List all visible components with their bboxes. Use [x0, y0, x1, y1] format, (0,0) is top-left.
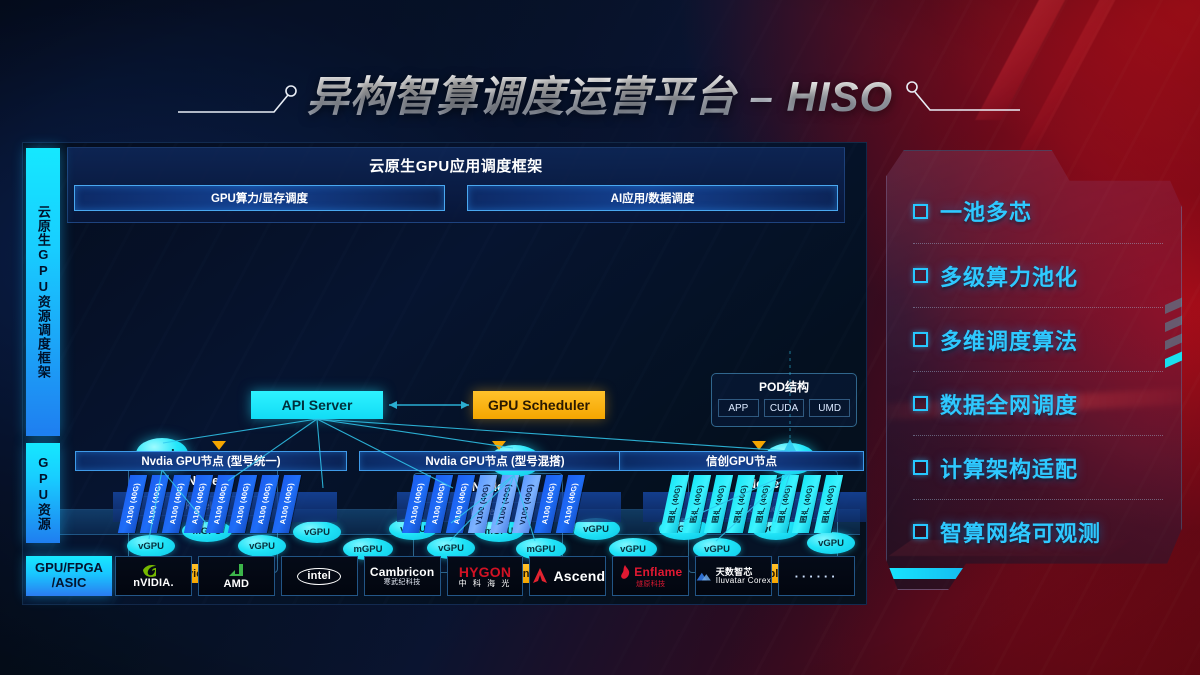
vendor-subname: 寒武纪科技 [384, 579, 421, 586]
feature-item-3[interactable]: 多维调度算法 [913, 307, 1163, 371]
page-title: 异构智算调度运营平台 – HISO [307, 63, 893, 124]
nvidia-eye-icon [140, 563, 166, 577]
vendor-name: Enflame [634, 566, 682, 578]
pod-structure-title: POD结构 [712, 378, 856, 395]
framework-bar-ai[interactable]: AI应用/数据调度 [467, 185, 838, 211]
feature-item-1[interactable]: 一池多芯 [913, 179, 1163, 243]
amd-arrow-icon [227, 562, 245, 578]
checkbox-icon [913, 332, 928, 347]
vendor-logo-iluvatar[interactable]: 天数智芯 Iluvatar Corex [695, 556, 772, 596]
vendor-name: Ascend [554, 569, 606, 583]
vendor-logo-nvidia[interactable]: nVIDIA. [115, 556, 192, 596]
enflame-flame-icon [619, 565, 631, 580]
checkbox-icon [913, 268, 928, 283]
vendor-name: HYGON [459, 565, 511, 579]
api-server-node[interactable]: API Server [251, 391, 383, 419]
feature-item-2[interactable]: 多级算力池化 [913, 243, 1163, 307]
checkbox-icon [913, 204, 928, 219]
gpu-resource-layer: Nvdia GPU节点 (型号统一) A100 (40G) A100 (40G)… [23, 443, 867, 563]
framework-bar-row: GPU算力/显存调度 AI应用/数据调度 [68, 185, 844, 211]
gpu-group-header-3: 信创GPU节点 [619, 451, 864, 471]
iluvatar-mountain-icon [696, 568, 711, 584]
vendor-logo-hygon[interactable]: HYGON 中 科 海 光 [447, 556, 524, 596]
feature-label: 多维调度算法 [940, 324, 1078, 356]
architecture-canvas: 云原生GPU应用调度框架 GPU算力/显存调度 AI应用/数据调度 [22, 142, 867, 605]
framework-panel-title: 云原生GPU应用调度框架 [68, 155, 844, 176]
pod-structure-row: APP CUDA UMD [712, 395, 856, 417]
framework-bar-compute[interactable]: GPU算力/显存调度 [74, 185, 445, 211]
vendor-logo-ascend[interactable]: Ascend [529, 556, 606, 596]
vendor-logo-cambricon[interactable]: Cambricon 寒武纪科技 [364, 556, 441, 596]
sidebar-label-framework: 云原生GPU资源调度框架 [26, 148, 60, 436]
gpu-group-header-2: Nvdia GPU节点 (型号混搭) [359, 451, 631, 471]
vendor-logo-amd[interactable]: AMD [198, 556, 275, 596]
pod-structure-cell-app: APP [718, 399, 759, 417]
vendor-logo-enflame[interactable]: Enflame 燧原科技 [612, 556, 689, 596]
vendor-logo-more[interactable]: ······ [778, 556, 855, 596]
feature-label: 智算网络可观测 [940, 516, 1101, 548]
ascend-mark-icon [531, 567, 549, 585]
pod-structure-box: POD结构 APP CUDA UMD [711, 373, 857, 427]
pod-structure-cell-umd: UMD [809, 399, 850, 417]
sidebar-label-gpu-resource: GPU资源 [26, 443, 60, 543]
title-bar: 异构智算调度运营平台 – HISO [0, 62, 1200, 124]
gpu-group-header-1: Nvdia GPU节点 (型号统一) [75, 451, 347, 471]
vendor-name: ······ [795, 570, 839, 583]
group-arrow-3 [752, 441, 766, 450]
pod-structure-cell-cuda: CUDA [764, 399, 805, 417]
checkbox-icon [913, 460, 928, 475]
feature-item-4[interactable]: 数据全网调度 [913, 371, 1163, 435]
features-panel: 一池多芯 多级算力池化 多维调度算法 数据全网调度 计算架构适配 智算网络可观测 [886, 150, 1182, 590]
group-arrow-2 [492, 441, 506, 450]
vendor-logo-intel[interactable]: intel [281, 556, 358, 596]
vendor-name: Cambricon [370, 566, 434, 578]
vendor-name: intel [307, 571, 331, 582]
vendor-subname: 燧原科技 [636, 581, 666, 588]
title-decoration-left [178, 62, 298, 124]
gpu-scheduler-node[interactable]: GPU Scheduler [473, 391, 605, 419]
feature-label: 多级算力池化 [940, 260, 1078, 292]
vendor-name: nVIDIA. [133, 578, 174, 589]
checkbox-icon [913, 396, 928, 411]
feature-label: 一池多芯 [940, 195, 1032, 227]
vendor-subname: 中 科 海 光 [459, 580, 512, 588]
feature-label: 计算架构适配 [940, 452, 1078, 484]
sidebar-label-asic: GPU/FPGA/ASIC [26, 556, 112, 596]
framework-panel: 云原生GPU应用调度框架 GPU算力/显存调度 AI应用/数据调度 [67, 147, 845, 223]
feature-item-6[interactable]: 智算网络可观测 [913, 499, 1163, 563]
vendor-logo-bar: nVIDIA. AMD intel Cambricon 寒武纪科技 HYGON … [115, 556, 855, 596]
feature-label: 数据全网调度 [940, 388, 1078, 420]
features-list: 一池多芯 多级算力池化 多维调度算法 数据全网调度 计算架构适配 智算网络可观测 [887, 151, 1181, 589]
checkbox-icon [913, 524, 928, 539]
vendor-name: AMD [224, 579, 250, 590]
feature-item-5[interactable]: 计算架构适配 [913, 435, 1163, 499]
title-decoration-right [900, 62, 1020, 124]
vendor-subname: Iluvatar Corex [716, 577, 771, 585]
group-arrow-1 [212, 441, 226, 450]
